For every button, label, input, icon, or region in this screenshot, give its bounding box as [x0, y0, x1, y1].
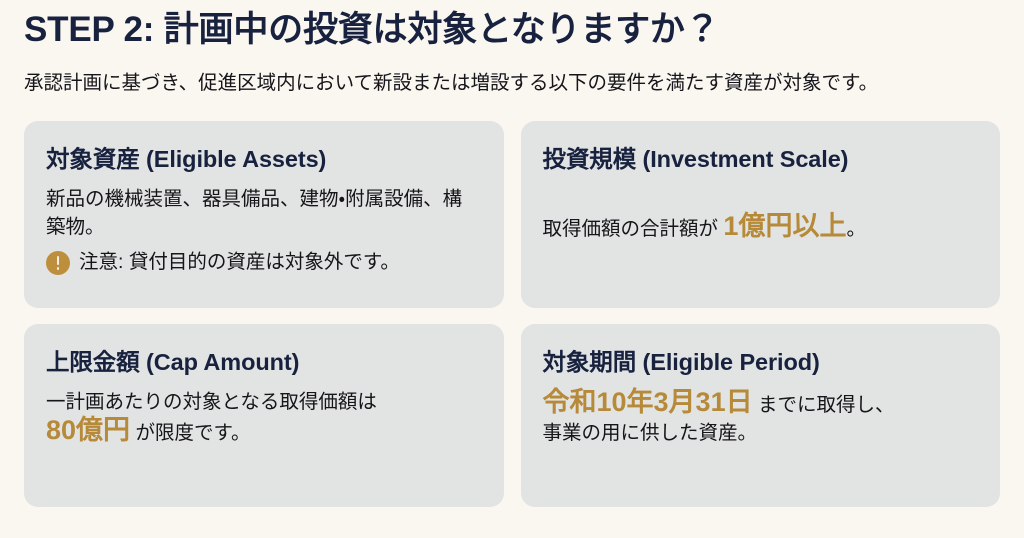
page-subtitle: 承認計画に基づき、促進区域内において新設または増設する以下の要件を満たす資産が対…: [24, 50, 1000, 96]
requirements-card-grid: 対象資産 (Eligible Assets) 新品の機械装置、器具備品、建物・附…: [24, 121, 1000, 507]
step-2-page: STEP 2: 計画中の投資は対象となりますか？ 承認計画に基づき、促進区域内に…: [0, 0, 1024, 538]
eligible-period-body-second-line: 事業の用に供した資産。: [543, 422, 758, 444]
page-title: STEP 2: 計画中の投資は対象となりますか？: [24, 0, 1000, 50]
warning-exclamation-icon: [46, 251, 70, 275]
card-cap-amount-title: 上限金額 (Cap Amount): [46, 348, 482, 377]
card-investment-scale-title: 投資規模 (Investment Scale): [543, 145, 979, 174]
investment-scale-highlight: 1億円以上: [723, 211, 846, 241]
cap-amount-body-suffix: が限度です。: [130, 422, 250, 444]
eligible-assets-note: 注意: 貸付目的の資産は対象外です。: [46, 251, 482, 275]
card-eligible-assets: 対象資産 (Eligible Assets) 新品の機械装置、器具備品、建物・附…: [24, 121, 504, 308]
card-eligible-period-title: 対象期間 (Eligible Period): [543, 348, 979, 377]
eligible-assets-note-text: 注意: 貸付目的の資産は対象外です。: [79, 251, 400, 274]
card-cap-amount: 上限金額 (Cap Amount) 一計画あたりの対象となる取得価額は80億円 …: [24, 324, 504, 507]
investment-scale-body-suffix: 。: [846, 218, 866, 240]
investment-scale-body-prefix: 取得価額の合計額が: [543, 218, 724, 240]
eligible-period-highlight: 令和10年3月31日: [543, 387, 753, 417]
eligible-period-body-suffix: までに取得し、: [753, 394, 895, 416]
cap-amount-body-prefix: 一計画あたりの対象となる取得価額は: [46, 391, 377, 413]
card-eligible-period: 対象期間 (Eligible Period) 令和10年3月31日 までに取得し…: [521, 324, 1001, 507]
cap-amount-highlight: 80億円: [46, 415, 130, 445]
card-eligible-assets-title: 対象資産 (Eligible Assets): [46, 145, 482, 174]
card-investment-scale: 投資規模 (Investment Scale) 取得価額の合計額が 1億円以上。: [521, 121, 1001, 308]
card-investment-scale-body: 取得価額の合計額が 1億円以上。: [543, 213, 979, 244]
card-eligible-assets-body: 新品の機械装置、器具備品、建物・附属設備、構築物。: [46, 186, 482, 241]
card-cap-amount-body: 一計画あたりの対象となる取得価額は80億円 が限度です。: [46, 389, 482, 447]
card-eligible-period-body: 令和10年3月31日 までに取得し、事業の用に供した資産。: [543, 389, 979, 447]
